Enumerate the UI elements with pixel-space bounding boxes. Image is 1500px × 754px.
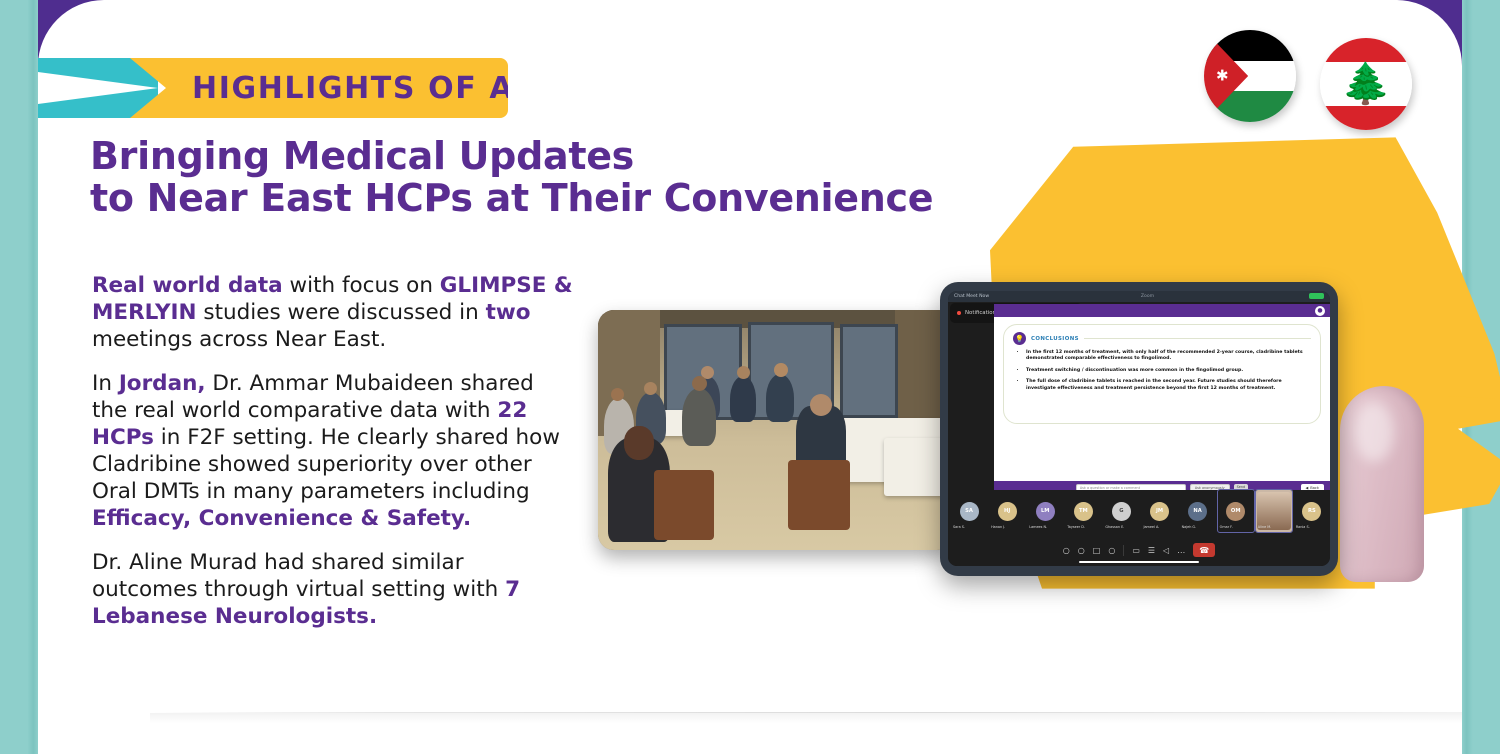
tablet-device: Chat Meet Now Zoom Notifications (1) ⌄ ●	[940, 282, 1338, 576]
highlights-banner: Highlights of AAN	[38, 58, 508, 118]
jordan-flag: ✱	[1204, 30, 1296, 122]
battery-icon	[1309, 293, 1324, 299]
p1-f: meetings across Near East.	[92, 327, 386, 352]
paragraph-jordan: In Jordan, Dr. Ammar Mubaideen shared th…	[92, 370, 574, 532]
footer-divider	[150, 712, 1462, 713]
home-indicator	[1079, 561, 1199, 564]
status-bar-right	[1306, 293, 1324, 300]
hangup-icon[interactable]: ☎	[1193, 543, 1215, 557]
participant-strip: SA Sara S. HJ Hanan J. LM Lamees N. TM T…	[948, 490, 1330, 534]
photo-attendee-head	[737, 366, 750, 379]
lebanon-flag: 🌲	[1320, 38, 1412, 130]
participant-tile[interactable]: JM Jameel A.	[1141, 490, 1177, 532]
p1-real-world-data: Real world data	[92, 273, 283, 298]
p2-attributes: Efficacy, Convenience & Safety.	[92, 506, 471, 531]
photo-attendee-head	[644, 382, 657, 395]
presentation-deck: ● 💡 CONCLUSIONS In the first 12 months o…	[994, 304, 1330, 494]
lightbulb-icon: 💡	[1013, 332, 1026, 345]
left-border	[0, 0, 38, 754]
p2-jordan: Jordan,	[119, 371, 206, 396]
participant-tile[interactable]: SA Sara S.	[951, 490, 987, 532]
participant-tile[interactable]: LM Lamees N.	[1027, 490, 1063, 532]
jordan-flag-stripes: ✱	[1204, 30, 1296, 122]
photo-attendee-head	[624, 426, 654, 460]
participant-name: Jameel A.	[1143, 525, 1159, 529]
speaker-icon[interactable]: ◁	[1163, 546, 1169, 555]
p2-e: in F2F setting. He clearly shared how Cl…	[92, 425, 560, 504]
p1-b: with focus on	[283, 273, 440, 298]
slide-bullet: In the first 12 months of treatment, wit…	[1026, 350, 1311, 363]
raise-hand-icon[interactable]: □	[1093, 546, 1101, 555]
cedar-tree-icon: 🌲	[1341, 64, 1391, 104]
photo-attendee-head	[611, 388, 624, 401]
photo-attendee-head	[692, 376, 707, 391]
illustration-area: ✱ 🌲	[560, 0, 1500, 754]
photo-attendee	[730, 376, 756, 422]
more-options-icon[interactable]: …	[1177, 546, 1185, 555]
avatar: G	[1112, 502, 1131, 521]
meeting-photo	[598, 310, 953, 550]
participant-name: Hanan J.	[991, 525, 1005, 529]
os-status-bar: Chat Meet Now Zoom	[948, 291, 1330, 302]
banner-body: Highlights of AAN	[130, 58, 508, 118]
avatar: SA	[960, 502, 979, 521]
people-icon[interactable]: ○	[1078, 546, 1085, 555]
status-bar-left: Chat Meet Now	[954, 294, 989, 299]
participant-tile[interactable]: HJ Hanan J.	[989, 490, 1025, 532]
avatar: LM	[1036, 502, 1055, 521]
photo-chair	[788, 460, 850, 530]
banner-label: Highlights of AAN	[192, 71, 566, 106]
deck-header-bar: ●	[994, 304, 1330, 317]
participant-name: Najeh G.	[1182, 525, 1197, 529]
p1-d: studies were discussed in	[197, 300, 486, 325]
p3-a: Dr. Aline Murad had shared similar outco…	[92, 550, 505, 602]
slide-title: CONCLUSIONS	[1031, 336, 1079, 342]
jordan-star-icon: ✱	[1216, 69, 1229, 84]
participant-tile[interactable]: TM Tayseer D.	[1065, 490, 1101, 532]
avatar: TM	[1074, 502, 1093, 521]
avatar: OM	[1226, 502, 1245, 521]
photo-attendee-head	[810, 394, 832, 416]
photo-window-3	[840, 324, 898, 418]
paragraph-lebanon: Dr. Aline Murad had shared similar outco…	[92, 549, 574, 630]
chat-icon[interactable]: ○	[1063, 546, 1070, 555]
camera-icon[interactable]: ▭	[1132, 546, 1140, 555]
microphone-icon[interactable]: ●	[1315, 306, 1325, 316]
banner-ribbon-tail	[38, 58, 158, 118]
thumb-shape	[1340, 386, 1424, 582]
participant-name: Tayseer D.	[1067, 525, 1085, 529]
slide-conclusions: 💡 CONCLUSIONS In the first 12 months of …	[1003, 324, 1321, 424]
participant-name: Omar F.	[1220, 525, 1233, 529]
participant-name: Ghassan E.	[1105, 525, 1124, 529]
paragraph-overview: Real world data with focus on GLIMPSE & …	[92, 272, 574, 353]
slide-title-rule	[1084, 338, 1311, 339]
controls-divider	[1123, 545, 1124, 556]
slide-canvas: Highlights of AAN Bringing Medical Updat…	[0, 0, 1500, 754]
microphone-icon[interactable]: ☰	[1148, 546, 1155, 555]
reactions-icon[interactable]: ○	[1108, 546, 1115, 555]
body-copy: Real world data with focus on GLIMPSE & …	[92, 272, 574, 630]
lebanon-stripe-bottom	[1320, 106, 1412, 130]
p1-two: two	[486, 300, 531, 325]
slide-bullet-list: In the first 12 months of treatment, wit…	[1013, 350, 1311, 392]
participant-name: Rania S.	[1296, 525, 1310, 529]
avatar: NA	[1188, 502, 1207, 521]
participant-tile[interactable]: RS Rania S.	[1294, 490, 1330, 532]
photo-attendee	[766, 374, 794, 422]
top-left-corner-accent	[38, 0, 104, 66]
avatar: RS	[1302, 502, 1321, 521]
avatar: HJ	[998, 502, 1017, 521]
avatar: JM	[1150, 502, 1169, 521]
p2-a: In	[92, 371, 119, 396]
slide-bullet: The full dose of cladribine tablets is r…	[1026, 379, 1311, 392]
photo-attendee	[682, 388, 716, 446]
slide-header: 💡 CONCLUSIONS	[1013, 332, 1311, 345]
participant-tile[interactable]: G Ghassan E.	[1103, 490, 1139, 532]
participant-name: Sara S.	[953, 525, 965, 529]
participant-tile-video[interactable]: Aline M.	[1256, 490, 1292, 532]
status-bar-center: Zoom	[1141, 294, 1154, 299]
photo-attendee-head	[774, 363, 788, 377]
participant-name: Aline M.	[1258, 525, 1272, 529]
slide-bullet: Treatment switching / discontinuation wa…	[1026, 368, 1311, 374]
participant-name: Lamees N.	[1029, 525, 1047, 529]
lebanon-stripe-top	[1320, 38, 1412, 62]
notification-badge-icon	[957, 311, 961, 315]
participant-tile-active[interactable]: OM Omar F.	[1218, 490, 1254, 532]
participant-tile[interactable]: NA Najeh G.	[1180, 490, 1216, 532]
photo-chair	[654, 470, 714, 540]
page-title-line1: Bringing Medical Updates	[90, 134, 634, 178]
lebanon-flag-stripes: 🌲	[1320, 38, 1412, 130]
tablet-screen: Chat Meet Now Zoom Notifications (1) ⌄ ●	[948, 291, 1330, 566]
